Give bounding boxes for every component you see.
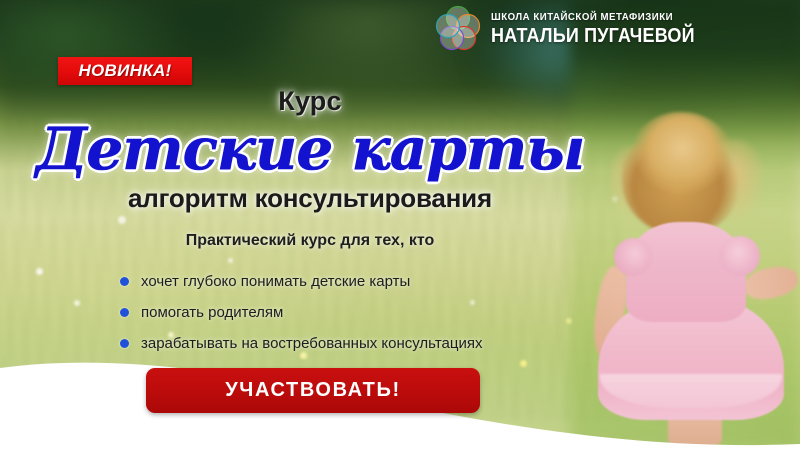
flower-speck (36, 268, 43, 275)
participate-button-label: УЧАСТВОВАТЬ! (225, 379, 400, 402)
brand-logo[interactable]: ШКОЛА КИТАЙСКОЙ МЕТАФИЗИКИ НАТАЛЬИ ПУГАЧ… (432, 3, 717, 55)
promo-banner: ШКОЛА КИТАЙСКОЙ МЕТАФИЗИКИ НАТАЛЬИ ПУГАЧ… (0, 0, 800, 450)
right-sleeve (720, 236, 760, 276)
brand-line-1: ШКОЛА КИТАЙСКОЙ МЕТАФИЗИКИ (491, 12, 699, 23)
hair (622, 112, 742, 234)
brand-logo-text: ШКОЛА КИТАЙСКОЙ МЕТАФИЗИКИ НАТАЛЬИ ПУГАЧ… (491, 12, 717, 46)
five-element-flower-logo-icon (432, 3, 484, 55)
list-item: хочет глубоко понимать детские карты (108, 268, 628, 294)
list-item-label: хочет глубоко понимать детские карты (141, 273, 410, 290)
flower-speck (228, 258, 233, 263)
headline-script-title: Детские карты (0, 119, 620, 179)
bullet-dot-icon (120, 339, 129, 348)
new-badge: НОВИНКА! (58, 57, 192, 85)
list-item: зарабатывать на востребованных консульта… (108, 330, 628, 356)
participate-button[interactable]: УЧАСТВОВАТЬ! (146, 368, 480, 413)
flower-speck (118, 216, 126, 224)
list-item-label: помогать родителям (141, 304, 283, 321)
new-badge-label: НОВИНКА! (78, 61, 171, 81)
headline-subtitle: алгоритм консультирования (0, 183, 620, 214)
brand-line-2: НАТАЛЬИ ПУГАЧЕВОЙ (491, 26, 695, 46)
headline-eyebrow: Курс (0, 86, 620, 117)
benefit-list: хочет глубоко понимать детские карты пом… (108, 268, 628, 361)
flower-speck (74, 300, 80, 306)
list-item: помогать родителям (108, 299, 628, 325)
lead-text: Практический курс для тех, кто (0, 232, 620, 250)
list-item-label: зарабатывать на востребованных консульта… (141, 335, 482, 352)
bullet-dot-icon (120, 277, 129, 286)
headline-block: Курс Детские карты алгоритм консультиров… (0, 86, 620, 214)
bullet-dot-icon (120, 308, 129, 317)
